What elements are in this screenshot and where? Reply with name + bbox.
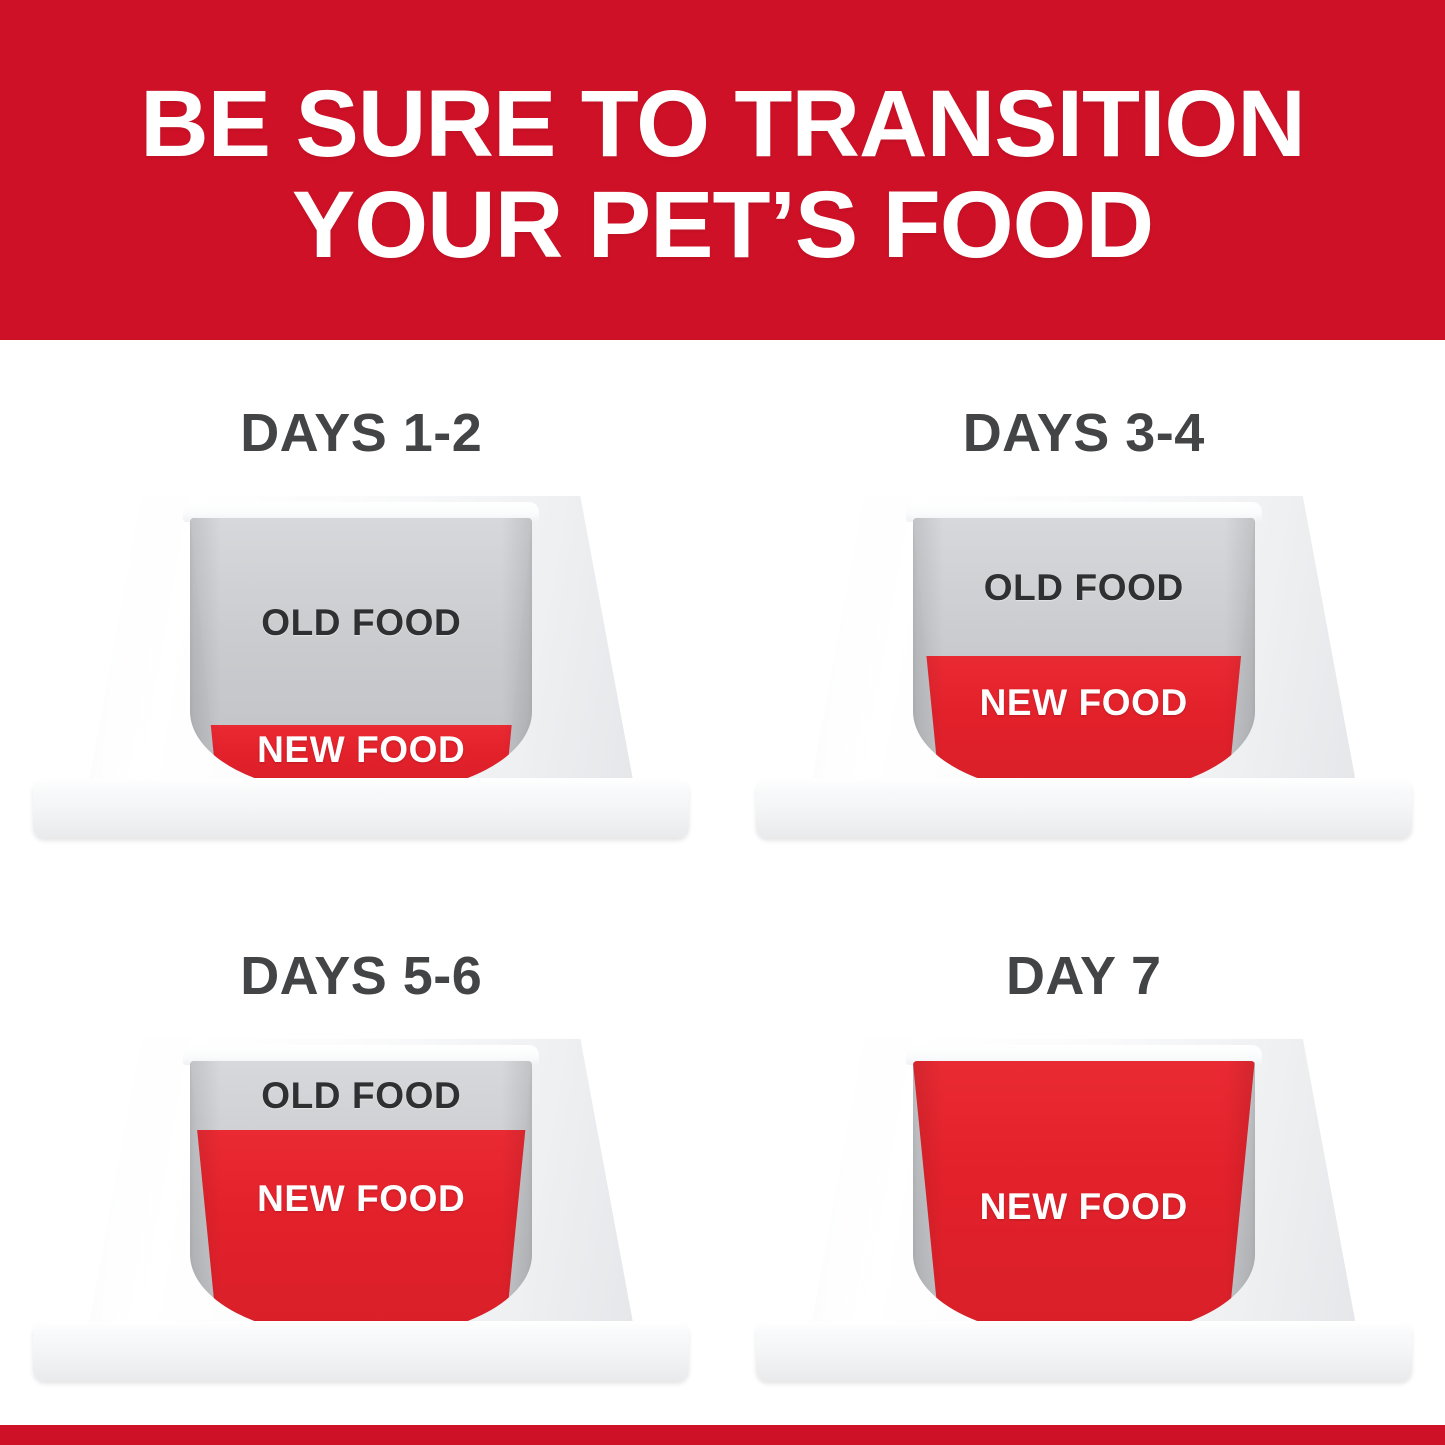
- bowl-cavity-inner: [913, 518, 1255, 794]
- bowl-base-highlight: [756, 1321, 1412, 1337]
- header-title-line-2: YOUR PET’S FOOD: [292, 175, 1153, 276]
- bowl-base: [756, 778, 1412, 838]
- pet-food-bowl: OLD FOOD NEW FOOD: [756, 496, 1412, 838]
- new-food-layer: [190, 1130, 532, 1337]
- new-food-layer: [913, 656, 1255, 794]
- pet-food-bowl: OLD FOOD NEW FOOD: [33, 1039, 689, 1381]
- new-food-label: NEW FOOD: [913, 682, 1255, 724]
- bowl-cavity: NEW FOOD: [913, 1061, 1255, 1337]
- pet-food-bowl: OLD FOOD NEW FOOD: [33, 496, 689, 838]
- transition-step-days-5-6: DAYS 5-6 OLD FOOD NEW FOOD: [0, 883, 723, 1426]
- transition-step-day-7: DAY 7 NEW FOOD: [723, 883, 1445, 1426]
- new-food-label: NEW FOOD: [190, 1178, 532, 1220]
- step-day-label: DAY 7: [1006, 945, 1162, 1007]
- bowl-base: [756, 1321, 1412, 1381]
- new-food-label: NEW FOOD: [913, 1186, 1255, 1228]
- bowl-base-highlight: [33, 778, 689, 794]
- bowl-cavity: OLD FOOD NEW FOOD: [190, 1061, 532, 1337]
- old-food-label: OLD FOOD: [913, 567, 1255, 609]
- pet-food-bowl: NEW FOOD: [756, 1039, 1412, 1381]
- step-day-label: DAYS 3-4: [963, 402, 1205, 464]
- new-food-label: NEW FOOD: [190, 729, 532, 771]
- infographic-page: BE SURE TO TRANSITION YOUR PET’S FOOD DA…: [0, 0, 1445, 1445]
- step-day-label: DAYS 5-6: [240, 945, 482, 1007]
- transition-steps-grid: DAYS 1-2 OLD FOOD NEW FOOD: [0, 340, 1445, 1425]
- bowl-cavity: OLD FOOD NEW FOOD: [913, 518, 1255, 794]
- old-food-label: OLD FOOD: [190, 1075, 532, 1117]
- header-banner: BE SURE TO TRANSITION YOUR PET’S FOOD: [0, 0, 1445, 340]
- footer-bar: [0, 1425, 1445, 1445]
- bowl-base: [33, 1321, 689, 1381]
- transition-step-days-1-2: DAYS 1-2 OLD FOOD NEW FOOD: [0, 340, 723, 883]
- transition-step-days-3-4: DAYS 3-4 OLD FOOD NEW FOOD: [723, 340, 1445, 883]
- old-food-label: OLD FOOD: [190, 602, 532, 644]
- step-day-label: DAYS 1-2: [240, 402, 482, 464]
- bowl-base-highlight: [756, 778, 1412, 794]
- bowl-base-highlight: [33, 1321, 689, 1337]
- header-title-line-1: BE SURE TO TRANSITION: [140, 74, 1305, 175]
- bowl-cavity: OLD FOOD NEW FOOD: [190, 518, 532, 794]
- bowl-base: [33, 778, 689, 838]
